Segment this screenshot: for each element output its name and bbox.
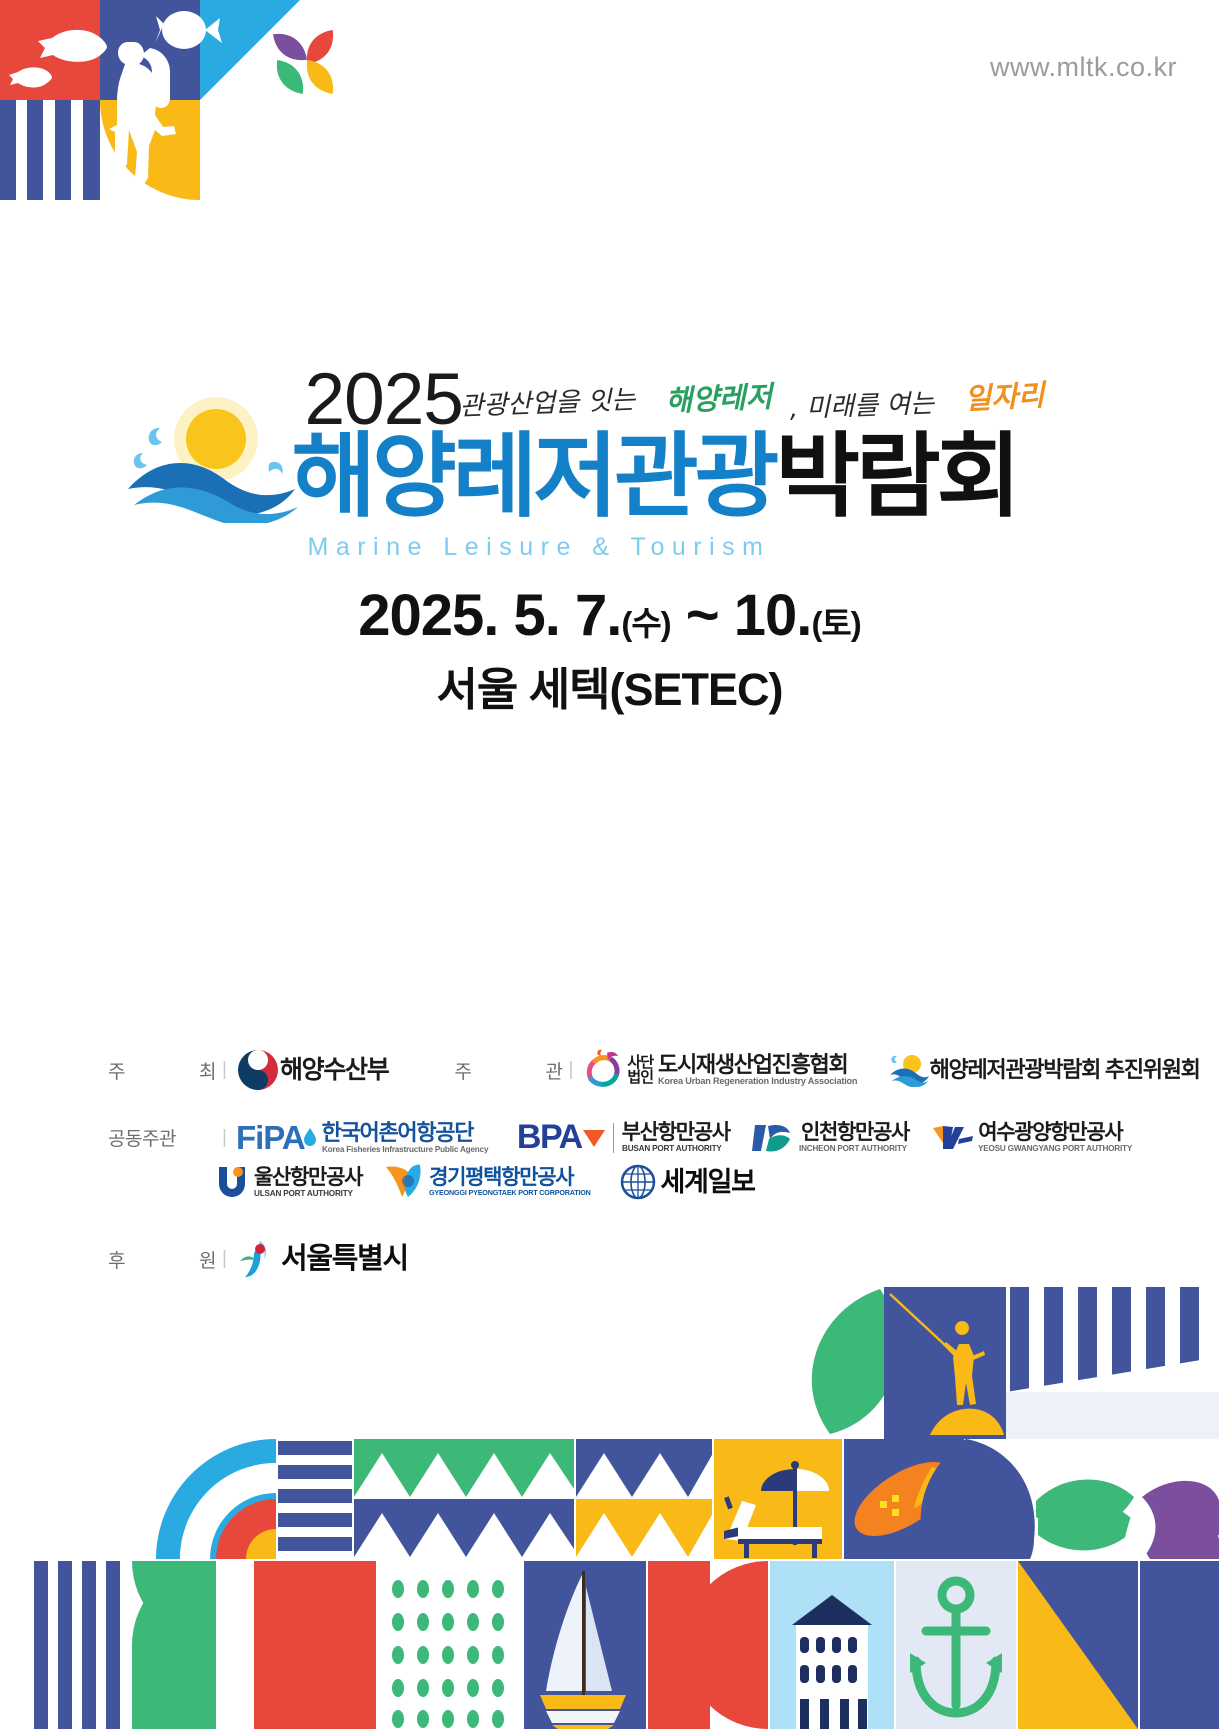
title-main-blue: 해양레저관광 — [292, 426, 776, 528]
label-organizer: 주 관 — [454, 1057, 562, 1084]
sun-wave-icon — [888, 1053, 930, 1087]
marine-collage-bottom — [0, 1239, 1219, 1729]
zigzag-waves — [354, 1439, 712, 1559]
korea-taegeuk-icon — [236, 1048, 280, 1092]
logo-segye-ko: 세계일보 — [661, 1168, 755, 1196]
logo-upa-text: 울산항만공사 ULSAN PORT AUTHORITY — [254, 1167, 362, 1198]
logo-fipa-text: 한국어촌어항공단 Korea Fisheries Infrastructure … — [322, 1121, 495, 1153]
marine-collage-top — [0, 0, 340, 225]
logo-ygpa-en: YEOSU GWANGYANG PORT AUTHORITY — [978, 1144, 1132, 1153]
label-coorganizer: 공동주관 — [108, 1124, 216, 1151]
logo-mof-ko: 해양수산부 — [280, 1057, 389, 1083]
label-host-char2: 최 — [199, 1057, 216, 1084]
title-main-dark: 박람회 — [775, 426, 1017, 528]
logo-ipa: 인천항만공사 INCHEON PORT AUTHORITY — [752, 1121, 911, 1155]
event-date: 2025. 5. 7.(수) ~ 10.(토) — [0, 582, 1219, 649]
logo-ygpa-text: 여수광양항만공사 YEOSU GWANGYANG PORT AUTHORITY — [978, 1122, 1139, 1153]
date-end-day: (토) — [811, 605, 860, 642]
svg-text:일자리: 일자리 — [963, 378, 1048, 416]
date-start-day: (수) — [621, 605, 670, 642]
logo-ipa-text: 인천항만공사 INCHEON PORT AUTHORITY — [799, 1122, 911, 1153]
logo-mof: 해양수산부 — [236, 1048, 389, 1092]
logo-upa-en: ULSAN PORT AUTHORITY — [254, 1189, 358, 1198]
logo-gppc: 경기평택항만공사 GYEONGGI PYEONGTAEK PORT CORPOR… — [384, 1163, 597, 1201]
page-title: 해양레저관광박람회 — [292, 431, 1018, 523]
event-venue: 서울 세텍(SETEC) — [0, 653, 1219, 718]
sponsor-row-host: 주 최 | 해양수산부 주 관 | — [0, 1048, 1219, 1092]
upa-icon — [216, 1164, 248, 1200]
sun-wave-logo — [120, 393, 310, 523]
divider-coorganizer: | — [222, 1127, 227, 1149]
logo-gppc-ko: 경기평택항만공사 — [429, 1167, 597, 1189]
logo-fipa: FiPA 한국어촌어항공단 Korea Fisheries Infrastruc… — [236, 1119, 495, 1157]
divider-organizer: | — [568, 1059, 573, 1081]
logo-segye: 세계일보 — [620, 1164, 755, 1200]
label-organizer-char1: 주 — [454, 1057, 471, 1084]
logo-ipa-ko: 인천항만공사 — [801, 1122, 909, 1144]
logo-upa: 울산항만공사 ULSAN PORT AUTHORITY — [216, 1164, 362, 1200]
website-url[interactable]: www.mltk.co.kr — [990, 52, 1177, 83]
date-start: 2025. 5. 7. — [358, 583, 621, 648]
logo-committee: 해양레저관광박람회 추진위원회 — [888, 1053, 1200, 1087]
svg-text:, 미래를 여는: , 미래를 여는 — [789, 389, 935, 424]
label-host: 주 최 — [108, 1057, 216, 1084]
divider-host: | — [222, 1059, 227, 1081]
date-end: 10. — [734, 583, 812, 648]
logo-segye-text: 세계일보 — [661, 1168, 755, 1196]
logo-bpa-wordmark: BPA — [517, 1118, 582, 1157]
logo-gppc-text: 경기평택항만공사 GYEONGGI PYEONGTAEK PORT CORPOR… — [429, 1167, 597, 1197]
logo-bpa: BPA 부산항만공사 BUSAN PORT AUTHORITY — [517, 1118, 730, 1157]
logo-ygpa-ko: 여수광양항만공사 — [978, 1122, 1139, 1144]
logo-committee-text: 해양레저관광박람회 추진위원회 — [930, 1058, 1200, 1081]
bpa-divider — [613, 1123, 614, 1153]
logo-ygpa: 여수광양항만공사 YEOSU GWANGYANG PORT AUTHORITY — [933, 1122, 1139, 1153]
logo-kuria-prefix: 사단법인 — [627, 1055, 653, 1086]
ygpa-icon — [933, 1125, 973, 1151]
ipa-icon — [752, 1121, 792, 1155]
kuria-circle-icon — [582, 1049, 624, 1091]
logo-ipa-en: INCHEON PORT AUTHORITY — [799, 1144, 907, 1153]
date-tilde: ~ — [686, 583, 719, 648]
logo-fipa-en: Korea Fisheries Infrastructure Public Ag… — [322, 1145, 488, 1154]
logo-kuria-en: Korea Urban Regeneration Industry Associ… — [658, 1077, 857, 1087]
logo-mof-text: 해양수산부 — [280, 1057, 389, 1083]
logo-kuria-text: 도시재생산업진흥협회 Korea Urban Regeneration Indu… — [658, 1053, 866, 1086]
logo-committee-ko: 해양레저관광박람회 추진위원회 — [930, 1058, 1200, 1081]
subtitle-english: Marine Leisure & Tourism — [308, 533, 771, 562]
tagline-handwritten: 관광산업을 잇는 해양레저 , 미래를 여는 일자리 — [460, 377, 1080, 433]
poster-canvas: www.mltk.co.kr 2025 관광산 — [0, 0, 1219, 1729]
label-host-char1: 주 — [108, 1057, 125, 1084]
logo-kuria-ko: 도시재생산업진흥협회 — [658, 1053, 866, 1076]
logo-gppc-en: GYEONGGI PYEONGTAEK PORT CORPORATION — [429, 1189, 591, 1197]
logo-kuria: 사단법인 도시재생산업진흥협회 Korea Urban Regeneration… — [582, 1049, 865, 1091]
logo-fipa-ko: 한국어촌어항공단 — [322, 1121, 495, 1144]
label-organizer-char2: 관 — [545, 1057, 562, 1084]
title-block: 2025 관광산업을 잇는 해양레저 , 미래를 여는 일자리 해양레저관광박람… — [0, 355, 1219, 530]
sponsor-row-coorganizer: 공동주관 | FiPA 한국어촌어항공단 Korea Fisheries Inf… — [0, 1118, 1219, 1157]
svg-text:해양레저: 해양레저 — [664, 379, 775, 418]
svg-text:관광산업을 잇는: 관광산업을 잇는 — [460, 385, 637, 422]
logo-upa-ko: 울산항만공사 — [254, 1167, 362, 1189]
gppc-icon — [384, 1163, 424, 1201]
logo-bpa-en: BUSAN PORT AUTHORITY — [622, 1144, 726, 1153]
sponsor-row-coorganizer-2: 울산항만공사 ULSAN PORT AUTHORITY 경기평택항만공사 GYE… — [216, 1163, 1219, 1201]
bpa-triangle-icon — [583, 1128, 605, 1148]
logo-fipa-wordmark: FiPA — [236, 1119, 305, 1157]
logo-bpa-ko: 부산항만공사 — [622, 1122, 730, 1144]
segye-globe-icon — [620, 1164, 656, 1200]
fipa-icon — [303, 1128, 317, 1148]
logo-bpa-text: 부산항만공사 BUSAN PORT AUTHORITY — [622, 1122, 730, 1153]
